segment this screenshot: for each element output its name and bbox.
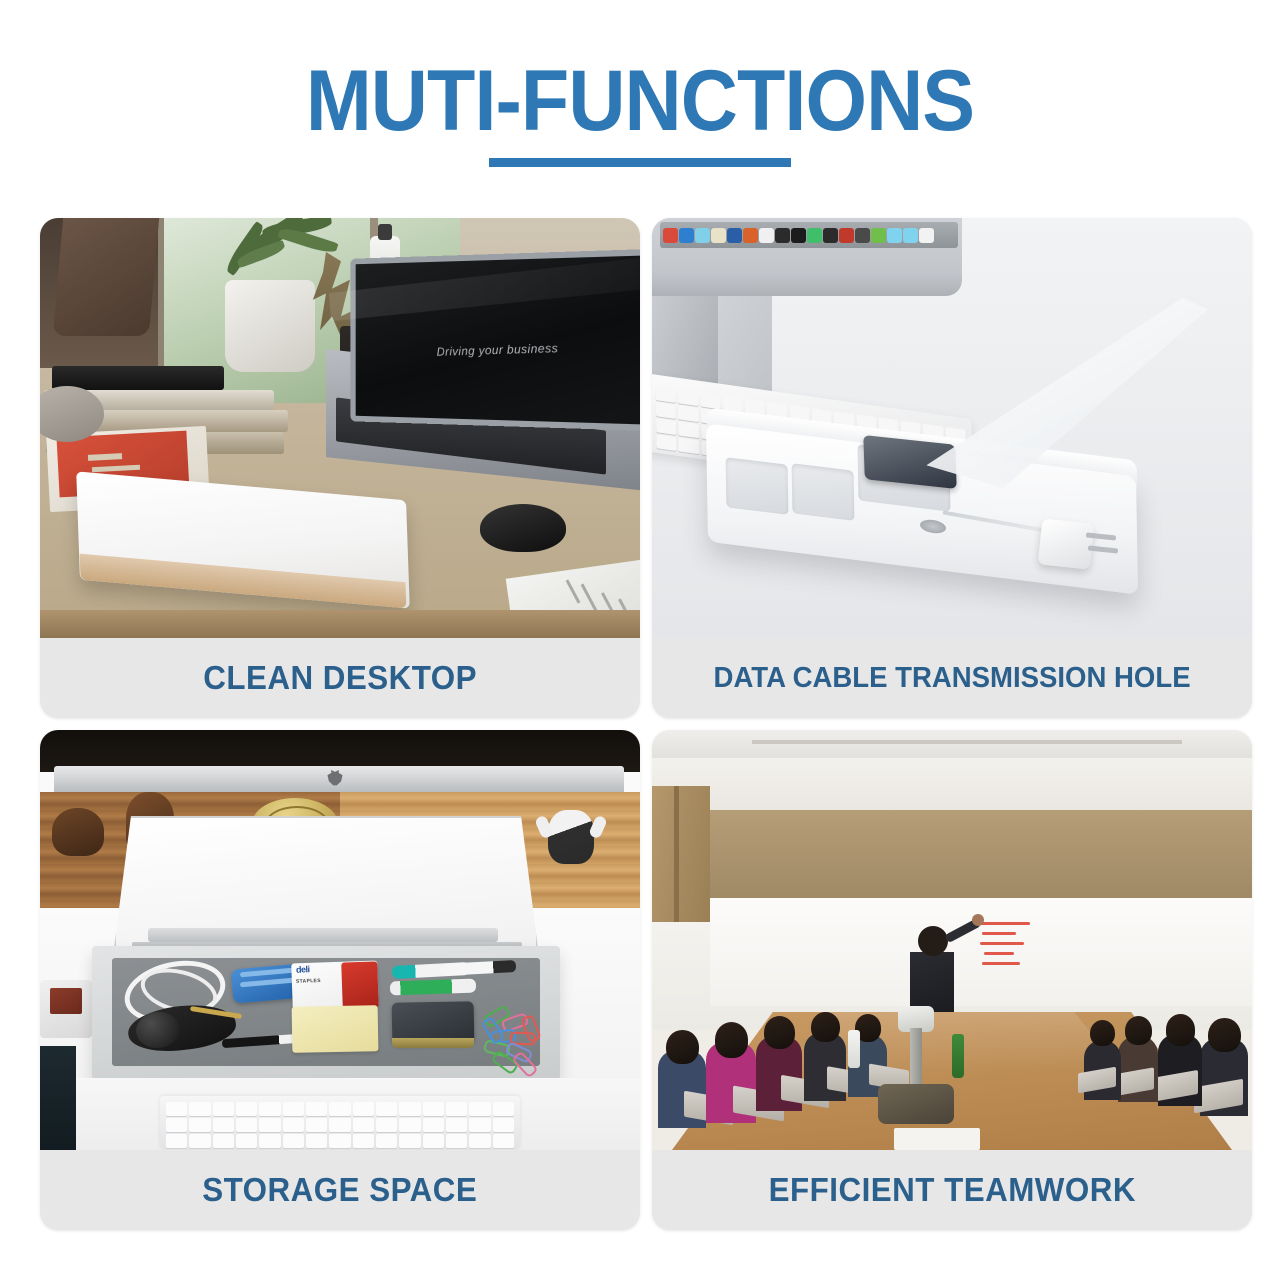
photo-efficient-teamwork bbox=[652, 730, 1252, 1150]
keyboard-key bbox=[329, 1134, 350, 1148]
desk-side-shadow bbox=[40, 1046, 76, 1150]
sticky-notes-icon bbox=[292, 1005, 379, 1052]
presenter-head bbox=[918, 926, 948, 956]
caption-label: DATA CABLE TRANSMISSION HOLE bbox=[713, 662, 1190, 695]
keyboard-key bbox=[399, 1102, 420, 1116]
keyboard-key bbox=[166, 1118, 187, 1132]
tray-compartment bbox=[726, 457, 789, 515]
plant-pot-icon bbox=[225, 280, 315, 372]
keyboard-key bbox=[446, 1134, 467, 1148]
feature-panel-data-cable-hole[interactable]: DATA CABLE TRANSMISSION HOLE bbox=[652, 218, 1252, 718]
dock-app-icon[interactable] bbox=[839, 228, 854, 243]
keyboard-key bbox=[469, 1102, 490, 1116]
caption-label: STORAGE SPACE bbox=[202, 1171, 477, 1209]
photo-storage-space: deli STAPLES bbox=[40, 730, 640, 1150]
keyboard-key bbox=[678, 405, 699, 422]
keyboard-keys bbox=[166, 1102, 514, 1148]
keyboard-key bbox=[306, 1118, 327, 1132]
keyboard-key bbox=[353, 1118, 374, 1132]
keyboard-key bbox=[656, 434, 677, 451]
tray-compartment bbox=[792, 463, 855, 521]
dock-app-icon[interactable] bbox=[711, 228, 726, 243]
macos-dock[interactable] bbox=[660, 222, 958, 248]
keyboard-key bbox=[678, 421, 699, 438]
green-bottle-icon bbox=[952, 1034, 964, 1078]
wall-band bbox=[652, 810, 1252, 898]
dock-app-icon[interactable] bbox=[871, 228, 886, 243]
keyboard-key bbox=[700, 392, 721, 409]
keyboard-key bbox=[213, 1118, 234, 1132]
keyboard-key bbox=[189, 1118, 210, 1132]
brown-figurine-icon bbox=[52, 808, 104, 856]
keyboard-key bbox=[469, 1134, 490, 1148]
caption-bar-clean-desktop: CLEAN DESKTOP bbox=[40, 638, 640, 718]
staples-box-red-panel bbox=[341, 961, 379, 1008]
eraser-base bbox=[392, 1038, 474, 1048]
caption-label: EFFICIENT TEAMWORK bbox=[768, 1171, 1135, 1209]
keyboard-key bbox=[423, 1134, 444, 1148]
participant-head bbox=[666, 1030, 698, 1064]
presenter-hand bbox=[972, 914, 984, 926]
keyboard-key bbox=[189, 1134, 210, 1148]
keyboard-key bbox=[469, 1118, 490, 1132]
ceiling bbox=[652, 730, 1252, 758]
caption-bar-storage-space: STORAGE SPACE bbox=[40, 1150, 640, 1230]
keyboard-key bbox=[353, 1102, 374, 1116]
ceiling-light bbox=[752, 740, 1182, 744]
keyboard-key bbox=[213, 1134, 234, 1148]
dock-app-icon[interactable] bbox=[695, 228, 710, 243]
keyboard-key bbox=[655, 386, 676, 403]
participant-head bbox=[811, 1012, 840, 1042]
keyboard-key bbox=[259, 1134, 280, 1148]
dock-app-icon[interactable] bbox=[743, 228, 758, 243]
dock-app-icon[interactable] bbox=[823, 228, 838, 243]
door-icon bbox=[652, 786, 710, 922]
dock-app-icon[interactable] bbox=[807, 228, 822, 243]
dock-app-icon[interactable] bbox=[727, 228, 742, 243]
keyboard-key bbox=[166, 1102, 187, 1116]
green-glue-stick-icon bbox=[390, 979, 476, 996]
whiteboard-writing bbox=[978, 922, 1030, 925]
page-title-block: MUTI-FUNCTIONS bbox=[0, 58, 1280, 144]
whiteboard-writing bbox=[982, 932, 1016, 935]
keyboard-key bbox=[236, 1118, 257, 1132]
keyboard-key bbox=[493, 1118, 514, 1132]
keyboard-key bbox=[656, 418, 677, 435]
keyboard-key bbox=[678, 389, 699, 406]
keyboard-key bbox=[376, 1134, 397, 1148]
water-bottle-icon bbox=[848, 1030, 860, 1068]
title-underline bbox=[489, 158, 791, 167]
participant-head bbox=[1125, 1016, 1152, 1045]
feature-panel-efficient-teamwork[interactable]: EFFICIENT TEAMWORK bbox=[652, 730, 1252, 1230]
dock-app-icon[interactable] bbox=[791, 228, 806, 243]
desk-lamp-icon bbox=[53, 218, 159, 336]
photo-data-cable-hole bbox=[652, 218, 1252, 638]
keyboard-key bbox=[259, 1118, 280, 1132]
keyboard-key bbox=[306, 1134, 327, 1148]
keyboard-key bbox=[493, 1102, 514, 1116]
keyboard-key bbox=[446, 1102, 467, 1116]
keyboard-key bbox=[259, 1102, 280, 1116]
caption-bar-data-cable-hole: DATA CABLE TRANSMISSION HOLE bbox=[652, 638, 1252, 718]
dock-app-icon[interactable] bbox=[919, 228, 934, 243]
dock-app-icon[interactable] bbox=[903, 228, 918, 243]
keyboard-key bbox=[423, 1102, 444, 1116]
keyboard-key bbox=[236, 1102, 257, 1116]
dock-app-icon[interactable] bbox=[663, 228, 678, 243]
laptop-screen-text: Driving your business bbox=[356, 338, 640, 361]
dock-app-icon[interactable] bbox=[887, 228, 902, 243]
keyboard-key bbox=[493, 1134, 514, 1148]
keyboard-key bbox=[283, 1134, 304, 1148]
keyboard-key bbox=[399, 1134, 420, 1148]
staples-box-brand: deli bbox=[296, 963, 336, 974]
wall-upper bbox=[652, 758, 1252, 810]
keyboard-key bbox=[189, 1102, 210, 1116]
keyboard-key bbox=[679, 437, 700, 454]
dock-app-icon[interactable] bbox=[855, 228, 870, 243]
speaker-stem bbox=[910, 1028, 922, 1092]
tray-lid-bar bbox=[148, 928, 498, 942]
dock-app-icon[interactable] bbox=[775, 228, 790, 243]
door-edge bbox=[674, 786, 679, 922]
paper-sheet-icon bbox=[894, 1128, 980, 1150]
keyboard-key bbox=[329, 1118, 350, 1132]
cat-figurine-icon bbox=[548, 810, 594, 864]
feature-panel-clean-desktop[interactable]: Driving your business CLEAN DESKTOP bbox=[40, 218, 640, 718]
desk-front-edge bbox=[40, 610, 640, 638]
caption-bar-efficient-teamwork: EFFICIENT TEAMWORK bbox=[652, 1150, 1252, 1230]
bottle-cap-icon bbox=[378, 224, 392, 240]
participant-head bbox=[1208, 1018, 1240, 1052]
keyboard-key bbox=[283, 1118, 304, 1132]
screen-glare bbox=[329, 249, 640, 321]
keyboard-key bbox=[166, 1134, 187, 1148]
keyboard-key bbox=[376, 1118, 397, 1132]
keyboard-key bbox=[283, 1102, 304, 1116]
laptop-screen-icon: Driving your business bbox=[350, 249, 640, 432]
participant-head bbox=[1166, 1014, 1196, 1046]
photo-clean-desktop: Driving your business bbox=[40, 218, 640, 638]
page-title: MUTI-FUNCTIONS bbox=[51, 58, 1229, 144]
keyboard-key bbox=[423, 1118, 444, 1132]
keyboard-key bbox=[656, 402, 677, 419]
caption-label: CLEAN DESKTOP bbox=[203, 659, 477, 697]
dock-app-icon[interactable] bbox=[759, 228, 774, 243]
usb-wall-charger-icon bbox=[1038, 518, 1095, 569]
participant-head bbox=[715, 1022, 748, 1058]
keyboard-key bbox=[446, 1118, 467, 1132]
computer-mouse-icon bbox=[480, 504, 566, 552]
feature-grid: Driving your business CLEAN DESKTOP bbox=[40, 218, 1240, 1230]
backpack-icon bbox=[878, 1084, 954, 1124]
mousepad-detail bbox=[50, 988, 82, 1014]
feature-panel-storage-space[interactable]: deli STAPLES STORAGE SPACE bbox=[40, 730, 640, 1230]
keyboard-key bbox=[236, 1134, 257, 1148]
keyboard-key bbox=[306, 1102, 327, 1116]
keyboard-key bbox=[399, 1118, 420, 1132]
whiteboard-writing bbox=[980, 942, 1024, 945]
keyboard-key bbox=[376, 1102, 397, 1116]
keyboard-key bbox=[329, 1102, 350, 1116]
keyboard-key bbox=[353, 1134, 374, 1148]
whiteboard-writing bbox=[982, 962, 1020, 965]
participant-head bbox=[1090, 1020, 1115, 1046]
keyboard-key bbox=[213, 1102, 234, 1116]
participant-head bbox=[764, 1016, 795, 1049]
whiteboard-writing bbox=[984, 952, 1014, 955]
dock-app-icon[interactable] bbox=[679, 228, 694, 243]
